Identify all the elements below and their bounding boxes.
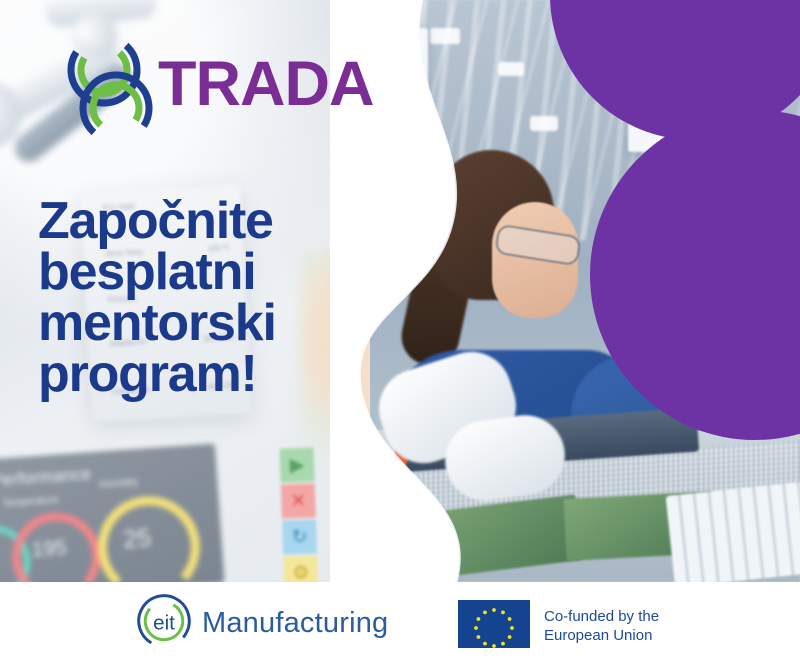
temperature-gauge-label: Temperature bbox=[2, 495, 59, 510]
eu-cofunded-line-2: European Union bbox=[544, 627, 659, 646]
close-x-icon: ✕ bbox=[281, 483, 316, 518]
eu-cofunded-text: Co-funded by the European Union bbox=[544, 608, 659, 646]
strada-s-monogram-icon bbox=[60, 28, 164, 146]
strada-wordmark: TRADA bbox=[158, 53, 373, 116]
humidity-gauge-label: Humidity bbox=[99, 477, 139, 491]
play-icon: ▶ bbox=[279, 447, 314, 482]
eu-cofunded-line-1: Co-funded by the bbox=[544, 608, 659, 627]
eit-manufacturing-logo: eit Manufacturing bbox=[135, 592, 388, 655]
eit-circle-mark-icon: eit bbox=[135, 592, 193, 655]
keyboard bbox=[666, 480, 800, 582]
dashboard-title: Performance bbox=[0, 464, 92, 491]
gear-icon: ⚙ bbox=[283, 555, 318, 582]
hmi-icon-strip: ▶ ✕ ↻ ⚙ bbox=[279, 447, 318, 582]
eit-manufacturing-label: Manufacturing bbox=[202, 607, 388, 640]
footer-bar bbox=[0, 582, 800, 671]
strada-logo: TRADA bbox=[60, 28, 373, 146]
headline-line-3: mentorski bbox=[38, 298, 388, 349]
headline-line-2: besplatni bbox=[38, 247, 388, 298]
headline: Započnite besplatni mentorski program! bbox=[38, 196, 388, 400]
headline-line-4: program! bbox=[38, 349, 388, 400]
refresh-icon: ↻ bbox=[282, 519, 317, 554]
eu-flag-icon bbox=[458, 600, 530, 653]
eu-cofunded-logo: Co-funded by the European Union bbox=[458, 600, 659, 653]
poster-canvas: PLC State Servo Temp 220 °F Pressure Set… bbox=[0, 0, 800, 671]
headline-line-1: Započnite bbox=[38, 196, 388, 247]
svg-text:eit: eit bbox=[153, 611, 175, 634]
temperature-gauge-value: 195 bbox=[31, 536, 68, 562]
humidity-gauge-value: 25 bbox=[122, 524, 152, 555]
performance-dashboard: Performance Efficiency Temperature Humid… bbox=[0, 443, 225, 582]
